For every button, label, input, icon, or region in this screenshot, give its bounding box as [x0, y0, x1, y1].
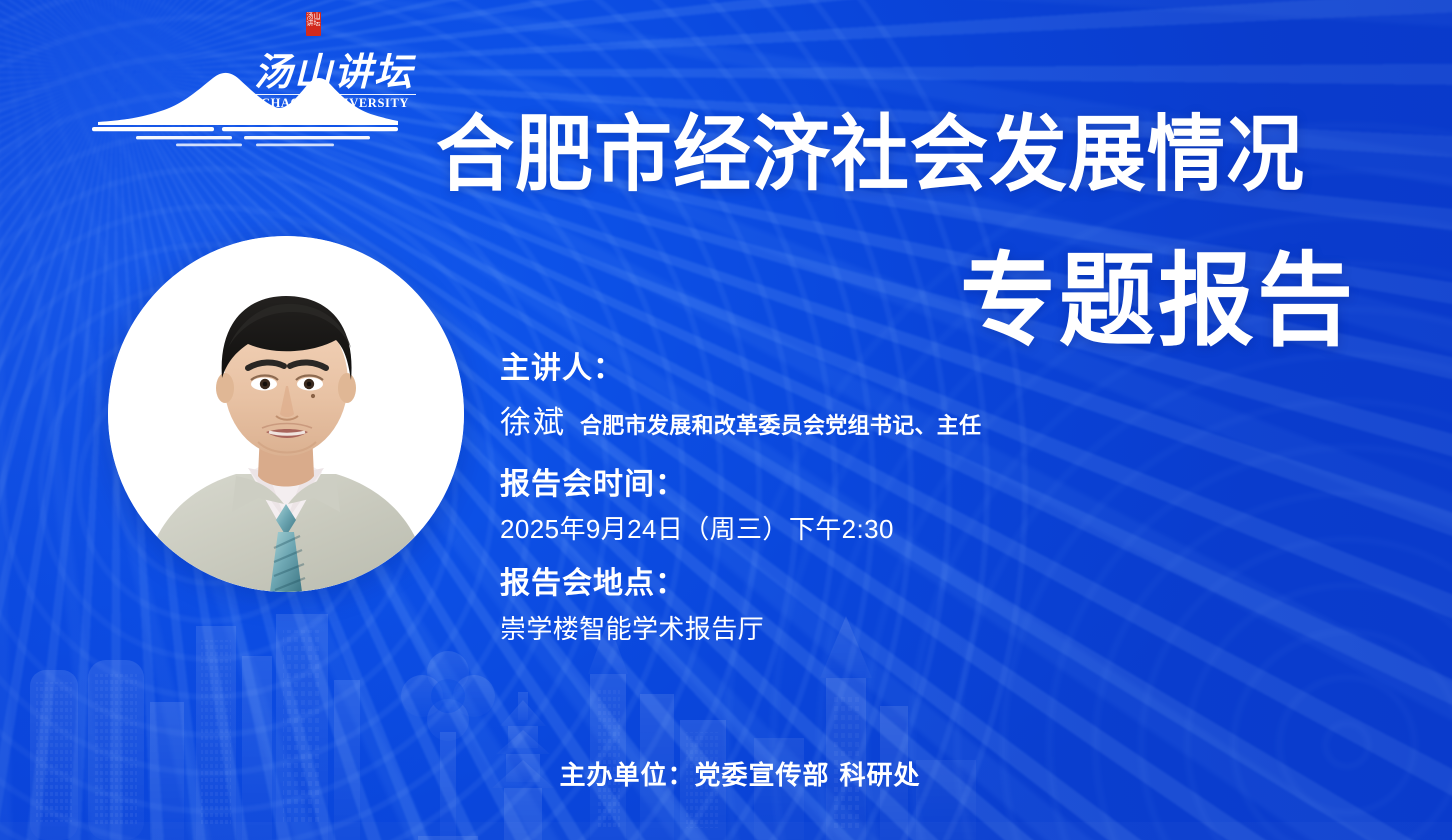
- logo-seal-icon: 汤山讲坛: [306, 12, 321, 36]
- logo-wordmark: 汤山讲坛 汤山讲坛 CHAOHU UNIVERSITY: [254, 54, 424, 111]
- logo-name-en: CHAOHU UNIVERSITY: [254, 94, 416, 111]
- speaker-title: 合肥市发展和改革委员会党组书记、主任: [580, 408, 981, 440]
- speaker-label: 主讲人：: [500, 348, 1200, 391]
- event-details: 主讲人： 徐斌 合肥市发展和改革委员会党组书记、主任 报告会时间： 2025年9…: [500, 348, 1200, 649]
- organizer-text: 主办单位：党委宣传部 科研处: [559, 755, 920, 792]
- event-poster: 汤山讲坛 汤山讲坛 CHAOHU UNIVERSITY 合肥市经济社会发展情况 …: [0, 0, 1452, 840]
- logo-name-cn: 汤山讲坛: [254, 54, 424, 93]
- footer-bar: 主办单位：党委宣传部 科研处: [0, 755, 1452, 792]
- time-label: 报告会时间：: [500, 464, 1200, 507]
- venue-label: 报告会地点：: [500, 563, 1200, 606]
- chaohu-university-logo: 汤山讲坛 汤山讲坛 CHAOHU UNIVERSITY: [72, 52, 422, 148]
- venue-value: 崇学楼智能学术报告厅: [500, 610, 1200, 649]
- time-value: 2025年9月24日（周三）下午2:30: [500, 510, 1200, 549]
- speaker-portrait-avatar: [108, 236, 464, 592]
- speaker-row: 徐斌 合肥市发展和改革委员会党组书记、主任: [500, 397, 1200, 442]
- speaker-name: 徐斌: [500, 397, 566, 442]
